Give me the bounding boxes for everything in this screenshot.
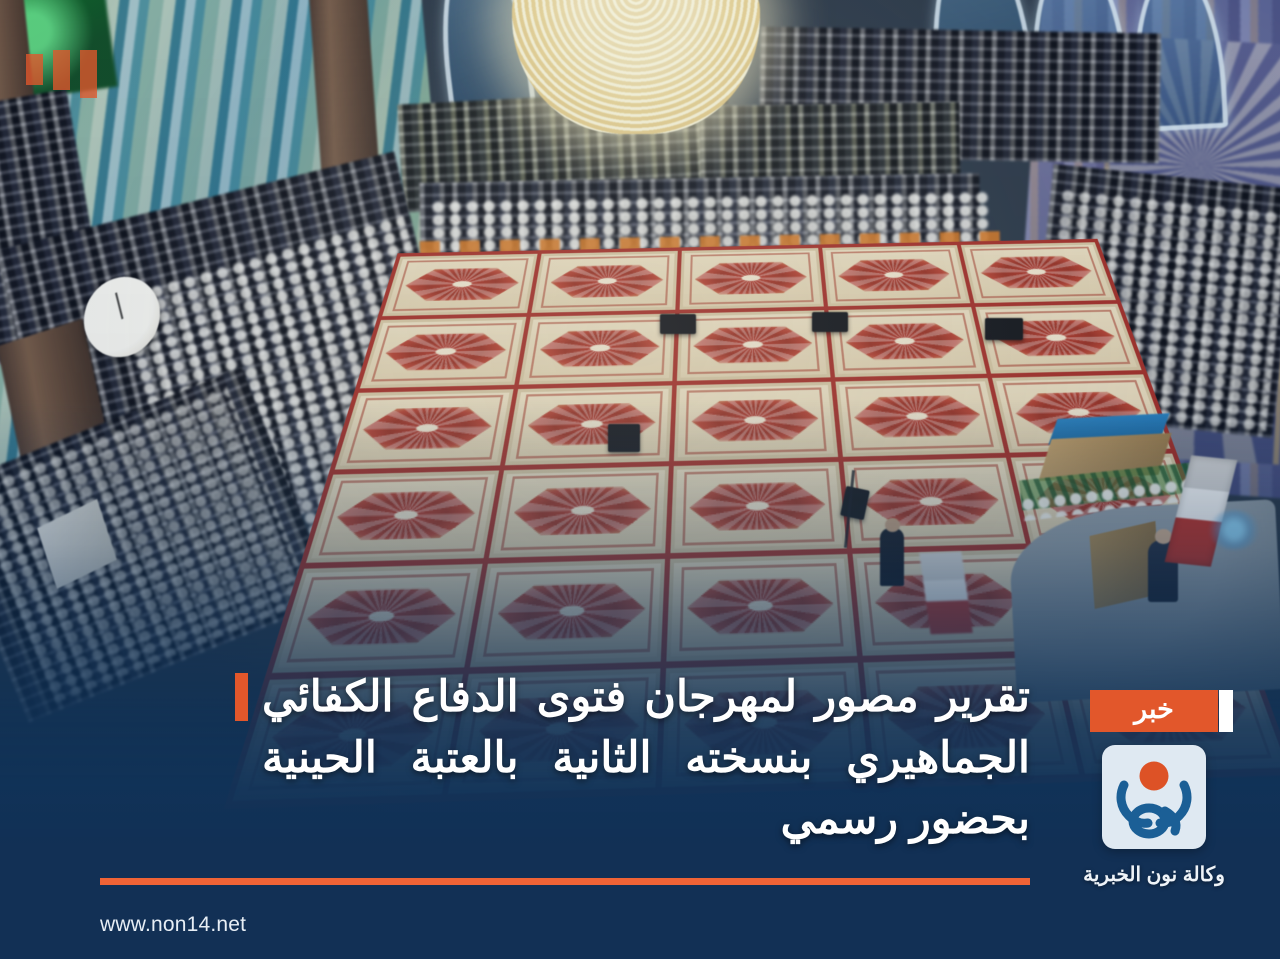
status-badge: خبر: [1090, 690, 1218, 732]
agency-name: وكالة نون الخبرية: [1083, 862, 1225, 887]
news-badge-label: خبر: [1134, 696, 1174, 723]
agency-logo: [1102, 745, 1206, 849]
watermark-bars-logo: [26, 50, 97, 98]
watermark-bar-2: [53, 50, 70, 90]
footer-divider: [100, 878, 1030, 885]
headline-block: تقرير مصور لمهرجان فتوى الدفاع الكفائي ا…: [235, 667, 1030, 850]
noon-letter-icon: [1102, 745, 1206, 849]
watermark-bar-3: [26, 54, 43, 85]
site-url: www.non14.net: [100, 913, 246, 937]
page-title: تقرير مصور لمهرجان فتوى الدفاع الكفائي ا…: [262, 667, 1030, 850]
headline-accent-bar: [235, 673, 248, 721]
news-card: تقرير مصور لمهرجان فتوى الدفاع الكفائي ا…: [0, 0, 1280, 959]
watermark-bar-1: [80, 50, 97, 98]
headline-line-1: تقرير مصور لمهرجان فتوى الدفاع الكفائي: [262, 667, 1030, 728]
badge-white-cap: [1219, 690, 1233, 732]
headline-line-3: بحضور رسمي: [262, 789, 1030, 850]
brand-block: خبر وكالة نون الخبرية: [1056, 690, 1252, 887]
headline-line-2: الجماهيري بنسخته الثانية بالعتبة الحينية: [262, 728, 1030, 789]
